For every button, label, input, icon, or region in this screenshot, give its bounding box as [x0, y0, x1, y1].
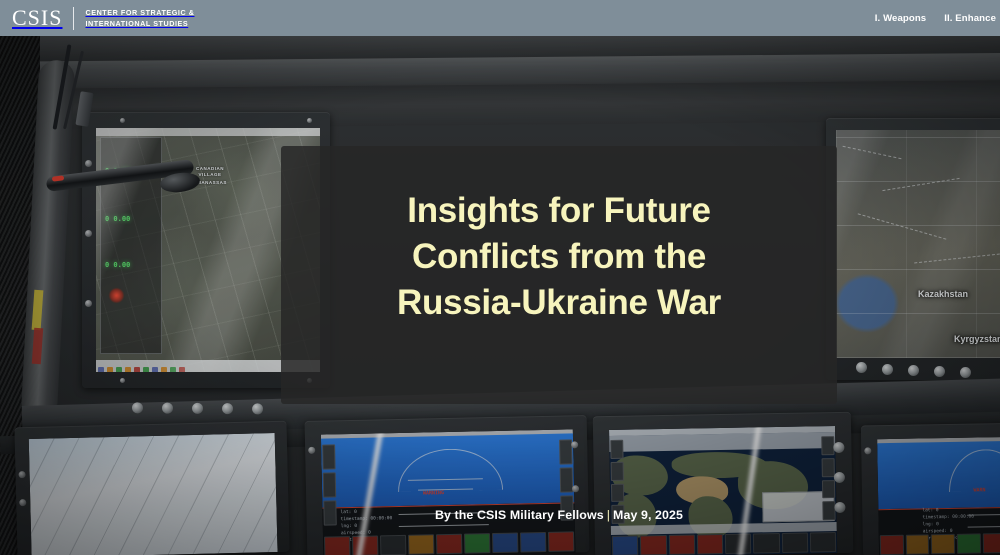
hero-title-card: Insights for Future Conflicts from the R…	[281, 146, 837, 404]
regional-map-imagery	[836, 130, 1000, 358]
rack-bolt	[19, 471, 26, 478]
screen-attitude-indicator-2: WARN lat: 0 timestamp: 00:00:00 lng: 0 a…	[877, 437, 1000, 555]
rack-bolt	[864, 447, 871, 454]
taskbar-icon	[134, 367, 140, 372]
taskbar-icon	[98, 367, 104, 372]
world-map-graphic	[609, 426, 837, 555]
map-soft-button[interactable]	[640, 535, 667, 555]
taskbar-icon	[107, 367, 113, 372]
map-button[interactable]	[822, 458, 835, 477]
rack-bolt	[85, 230, 92, 237]
adi-soft-button[interactable]	[408, 534, 434, 555]
rack-bolt	[307, 118, 312, 123]
map-button[interactable]	[822, 480, 835, 499]
map-label-kyrgyzstan: Kyrgyzstan	[954, 335, 1000, 344]
readout-value-3: 0 0.00	[105, 262, 130, 269]
taskbar-icon	[143, 367, 149, 372]
rack-bolt	[19, 499, 26, 506]
adi-soft-button[interactable]	[380, 535, 406, 555]
adi-soft-button[interactable]	[905, 534, 929, 554]
monitor-regional-map: Kazakhstan Kyrgyzstan	[826, 118, 1000, 380]
monitor-attitude-indicator-2: WARN lat: 0 timestamp: 00:00:00 lng: 0 a…	[861, 423, 1000, 555]
csis-wordmark: CSIS	[12, 7, 73, 29]
adi-soft-button[interactable]	[931, 534, 955, 554]
page-title: Insights for Future Conflicts from the R…	[349, 188, 769, 327]
adi-soft-button[interactable]	[982, 533, 1000, 553]
map-soft-button[interactable]	[697, 534, 724, 554]
site-header: CSIS CENTER FOR STRATEGIC & INTERNATIONA…	[0, 0, 1000, 36]
map-soft-button[interactable]	[668, 535, 695, 555]
map-soft-button[interactable]	[753, 533, 780, 553]
taskbar-icon	[179, 367, 185, 372]
map-label-kazakhstan: Kazakhstan	[918, 290, 968, 299]
csis-logo-link[interactable]: CSIS CENTER FOR STRATEGIC & INTERNATIONA…	[0, 0, 194, 36]
taskbar-icon	[152, 367, 158, 372]
monitor-world-map	[593, 412, 853, 555]
panel-knob[interactable]	[834, 472, 845, 483]
csis-tagline: CENTER FOR STRATEGIC & INTERNATIONAL STU…	[74, 7, 194, 29]
screen-blank-panel	[29, 433, 278, 555]
site-navigation: I. Weapons II. Enhance	[875, 0, 1000, 36]
screen-world-map	[609, 426, 837, 555]
rack-bolt	[120, 378, 125, 383]
rack-bolt	[572, 485, 579, 492]
adi-soft-button[interactable]	[548, 531, 574, 552]
adi-warning-text: WARNING	[423, 491, 444, 496]
panel-knob[interactable]	[908, 365, 919, 376]
map-button[interactable]	[611, 483, 624, 502]
hero-byline: By the CSIS Military Fellows|May 9, 2025	[281, 508, 837, 522]
adi-button-row-2[interactable]	[879, 532, 1000, 555]
byline-separator: |	[604, 508, 613, 522]
readout-value-2: 0 0.00	[105, 216, 130, 223]
map-button[interactable]	[611, 462, 624, 481]
panel-knob[interactable]	[960, 367, 971, 378]
adi-soft-button[interactable]	[492, 533, 518, 554]
adi-soft-button[interactable]	[464, 533, 490, 554]
taskbar-icon	[125, 367, 131, 372]
taskbar-icon	[161, 367, 167, 372]
adi-soft-button[interactable]	[324, 536, 350, 555]
world-map-button-row[interactable]	[611, 531, 837, 555]
map-soft-button[interactable]	[810, 532, 837, 552]
rack-bolt	[85, 160, 92, 167]
tagline-line-1: CENTER FOR STRATEGIC &	[85, 8, 194, 17]
window-titlebar	[96, 128, 320, 136]
page-root: 0 0.00 0 0.00 0 0.00 CANADIAN VILLAGE MA…	[0, 0, 1000, 555]
byline-author: By the CSIS Military Fellows	[435, 508, 604, 522]
map-soft-button[interactable]	[781, 533, 808, 553]
attitude-indicator-graphic-2: WARN lat: 0 timestamp: 00:00:00 lng: 0 a…	[877, 437, 1000, 555]
map-soft-button[interactable]	[612, 535, 639, 555]
rack-bolt	[85, 300, 92, 307]
adi-button[interactable]	[323, 472, 337, 497]
screen-regional-map: Kazakhstan Kyrgyzstan	[836, 130, 1000, 358]
adi-soft-button[interactable]	[957, 533, 981, 553]
panel-knob[interactable]	[934, 366, 945, 377]
monitor-blank-panel	[14, 421, 289, 555]
world-map-toolbar	[609, 432, 835, 452]
taskbar-icon	[116, 367, 122, 372]
panel-knob[interactable]	[882, 364, 893, 375]
adi-soft-button[interactable]	[436, 534, 462, 555]
tagline-line-2: INTERNATIONAL STUDIES	[85, 19, 188, 28]
adi-soft-button[interactable]	[880, 535, 904, 555]
alert-indicator-dot	[109, 288, 124, 303]
adi-soft-button[interactable]	[520, 532, 546, 553]
taskbar-icon	[170, 367, 176, 372]
screen-reflection	[29, 433, 278, 555]
rack-bolt	[120, 118, 125, 123]
nav-item-weapons[interactable]: I. Weapons	[875, 13, 926, 24]
panel-knob[interactable]	[856, 362, 867, 373]
nav-item-enhance[interactable]: II. Enhance	[944, 13, 1000, 24]
monitor-attitude-indicator: WARNING lat: 0 timestamp: 00:00:00 lng: …	[305, 415, 590, 555]
rack-bolt	[571, 441, 578, 448]
panel-knob[interactable]	[833, 442, 844, 453]
rack-bolt	[308, 447, 315, 454]
map-button[interactable]	[610, 440, 623, 459]
byline-date: May 9, 2025	[613, 508, 683, 522]
adi-button[interactable]	[322, 444, 336, 469]
screen-attitude-indicator: WARNING lat: 0 timestamp: 00:00:00 lng: …	[321, 429, 576, 555]
adi-warning-text: WARN	[973, 489, 985, 494]
